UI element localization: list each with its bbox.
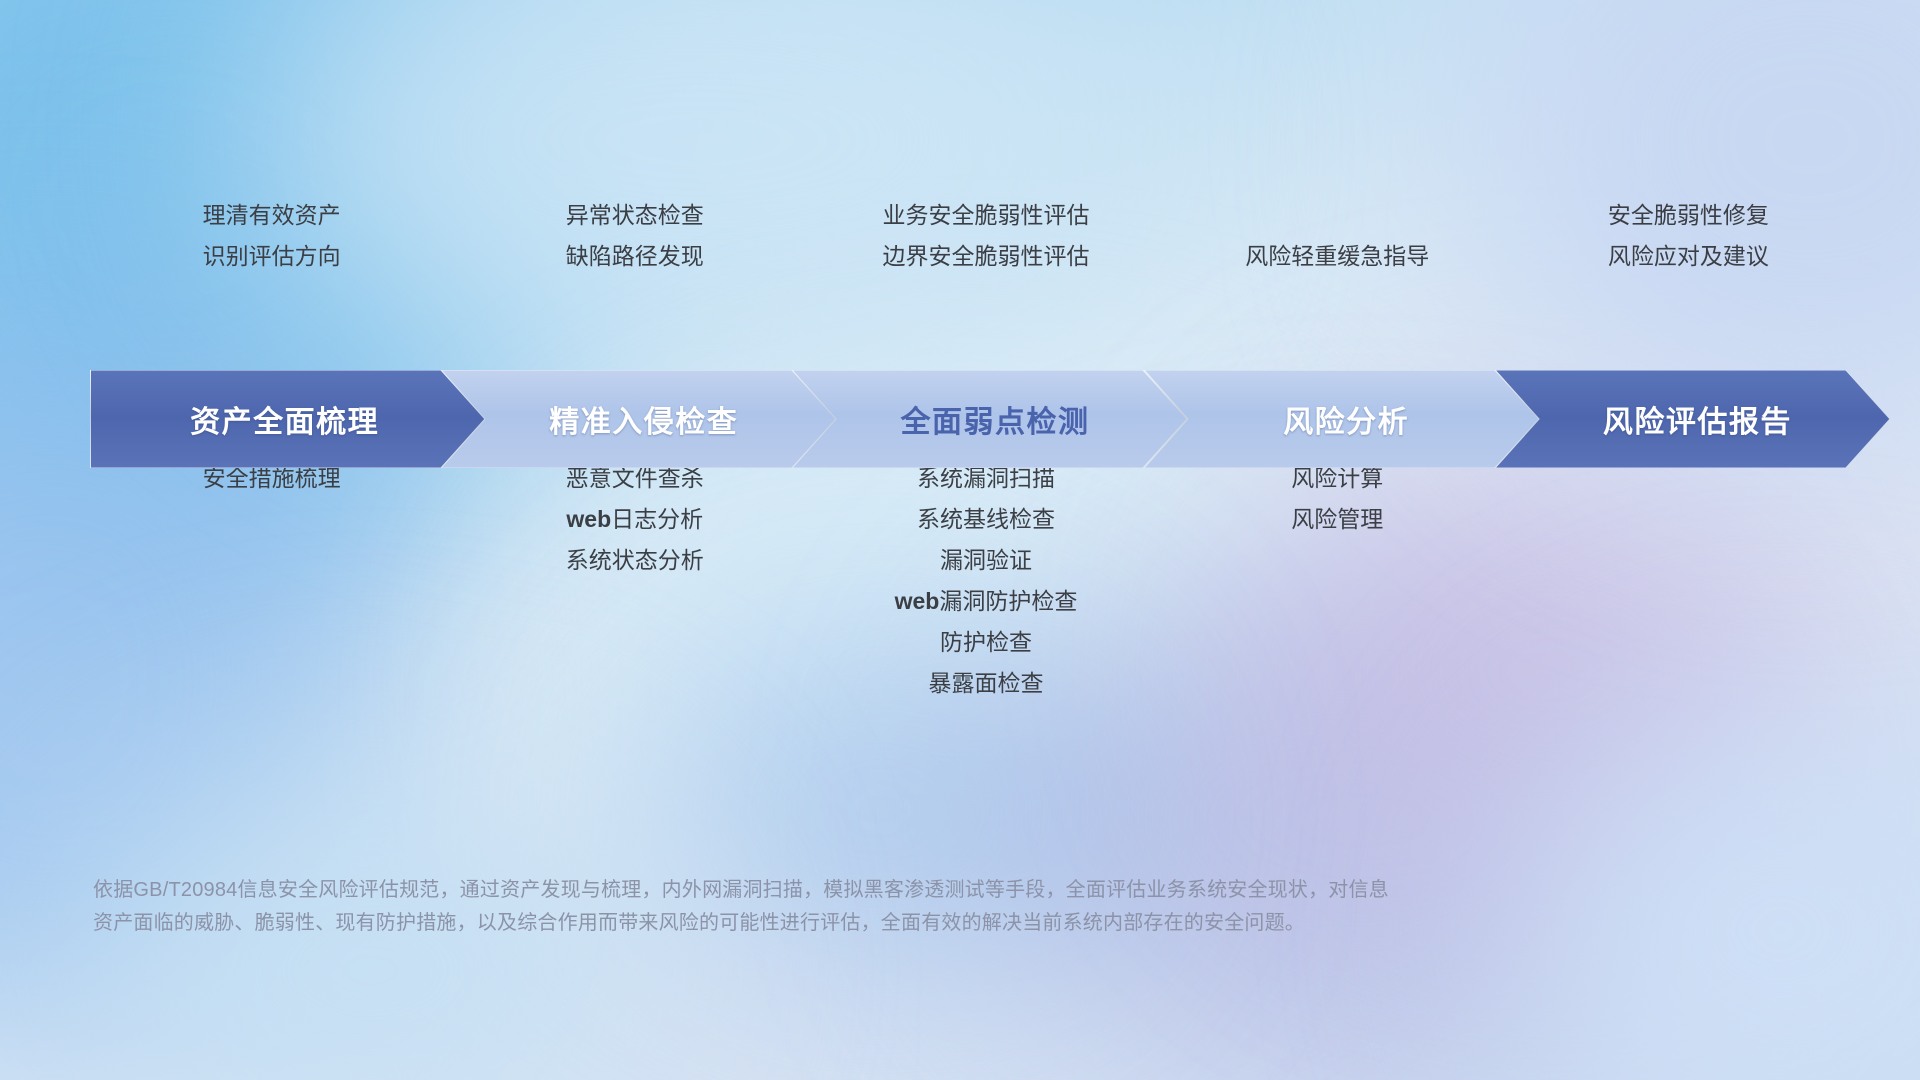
diagram-content: 理清有效资产识别评估方向异常状态检查缺陷路径发现业务安全脆弱性评估边界安全脆弱性… [0,0,1920,1080]
process-stage-5[interactable]: 风险评估报告 [1495,370,1890,468]
stage-item-emphasis: web [566,506,611,532]
stage-title: 风险评估报告 [1603,397,1792,441]
footer-description: 依据GB/T20984信息安全风险评估规范，通过资产发现与梳理，内外网漏洞扫描，… [93,874,1643,940]
process-stage-1[interactable]: 资产全面梳理 [90,370,485,468]
stage-title: 精准入侵检查 [549,397,738,441]
stage-5-top-items: 安全脆弱性修复风险应对及建议 [1388,195,1920,277]
process-stage-4[interactable]: 风险分析 [1144,370,1539,468]
process-stage-2[interactable]: 精准入侵检查 [441,370,836,468]
footer-line-2: 资产面临的威胁、脆弱性、现有防护措施，以及综合作用而带来风险的可能性进行评估，全… [93,907,1643,940]
stage-item: web漏洞防护检查 [686,581,1286,622]
footer-line-1: 依据GB/T20984信息安全风险评估规范，通过资产发现与梳理，内外网漏洞扫描，… [93,874,1643,907]
stage-item: 防护检查 [686,622,1286,663]
stage-item: 业务安全脆弱性评估 [686,195,1286,236]
stage-item-emphasis: web [895,588,940,614]
stage-item: 风险管理 [1037,499,1637,540]
slide-canvas: 理清有效资产识别评估方向异常状态检查缺陷路径发现业务安全脆弱性评估边界安全脆弱性… [0,0,1920,1080]
stage-title: 风险分析 [1283,397,1409,441]
process-chevron-band: 资产全面梳理精准入侵检查全面弱点检测风险分析风险评估报告 [90,370,1846,468]
stage-title: 全面弱点检测 [900,397,1089,441]
stage-item: 安全脆弱性修复 [1388,195,1920,236]
stage-title: 资产全面梳理 [190,397,379,441]
process-stage-3[interactable]: 全面弱点检测 [792,370,1187,468]
stage-item: 暴露面检查 [686,663,1286,704]
stage-item: 漏洞验证 [686,540,1286,581]
stage-item: 风险应对及建议 [1388,236,1920,277]
